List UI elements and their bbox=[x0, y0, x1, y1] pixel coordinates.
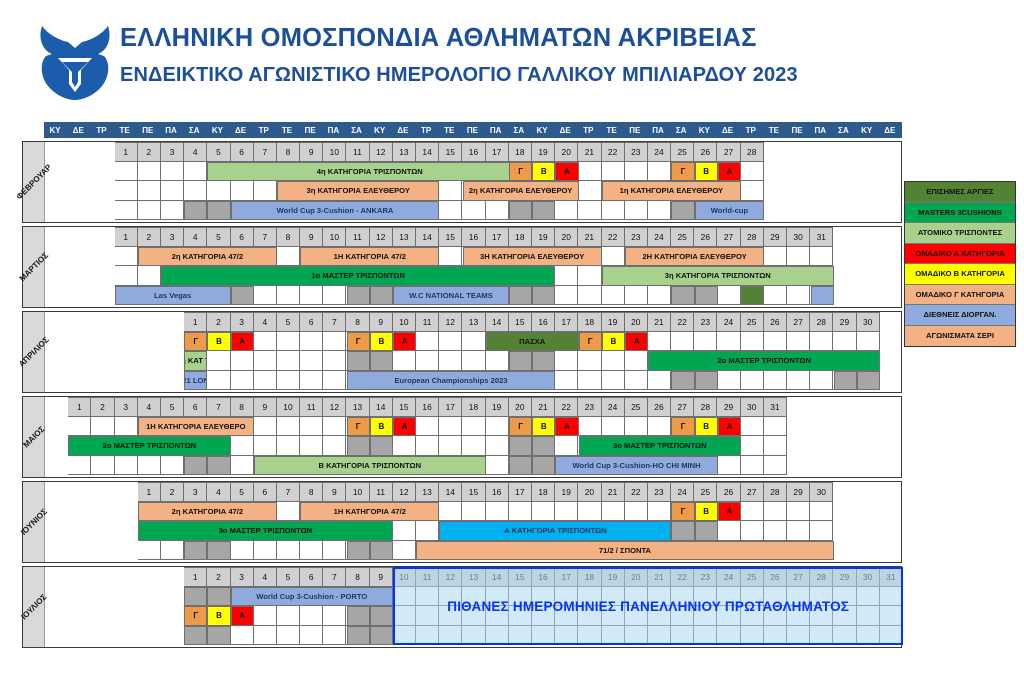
calendar-cell bbox=[532, 502, 555, 522]
day-number-cell: 27 bbox=[741, 482, 764, 502]
event-bar: W.C NATIONAL TEAMS bbox=[393, 286, 509, 306]
spacer-cell bbox=[91, 286, 114, 306]
day-number-cell: 27 bbox=[717, 227, 740, 247]
calendar-cell bbox=[509, 626, 532, 646]
calendar-cell bbox=[207, 181, 230, 201]
weekend-cell bbox=[347, 606, 370, 626]
months-host: ΦΕΒΡΟΥΑΡ12345678910111213141516171819202… bbox=[22, 141, 902, 648]
spacer-cell bbox=[68, 201, 91, 221]
event-bar: 4η ΚΑΤΗΓΟΡΙΑ ΤΡΙΣΠΟΝΤΩΝ bbox=[207, 162, 532, 182]
weekday-header-cell: ΔΕ bbox=[554, 122, 577, 138]
calendar-cell bbox=[115, 181, 138, 201]
calendar-cell bbox=[787, 521, 810, 541]
day-number-cell: 25 bbox=[741, 567, 764, 587]
calendar-cell bbox=[486, 502, 509, 522]
day-number-cell: 28 bbox=[810, 312, 833, 332]
calendar-cell bbox=[277, 286, 300, 306]
spacer-cell bbox=[45, 142, 68, 162]
weekend-cell bbox=[671, 201, 694, 221]
event-bar: Γ bbox=[184, 332, 207, 352]
day-number-cell: 21 bbox=[648, 567, 671, 587]
calendar-cell bbox=[671, 606, 694, 626]
weekend-cell bbox=[207, 626, 230, 646]
month-block: ΜΑΡΤΙΟΣ123456789101112131415161718192021… bbox=[22, 226, 902, 308]
calendar-cell bbox=[254, 436, 277, 456]
day-number-cell: 15 bbox=[462, 482, 485, 502]
calendar-cell bbox=[323, 541, 346, 561]
day-number-cell: 8 bbox=[277, 227, 300, 247]
federation-logo-icon bbox=[36, 22, 114, 102]
calendar-cell bbox=[648, 371, 671, 391]
calendar-cell bbox=[300, 351, 323, 371]
calendar-cell bbox=[416, 626, 439, 646]
day-number-cell: 8 bbox=[346, 567, 369, 587]
day-number-cell: 2 bbox=[161, 482, 184, 502]
calendar-cell bbox=[486, 201, 509, 221]
spacer-cell bbox=[68, 606, 91, 626]
day-number-cell: 18 bbox=[578, 312, 601, 332]
spacer-cell bbox=[45, 181, 68, 201]
event-bar: Γ bbox=[347, 332, 370, 352]
page-title: ΕΛΛΗΝΙΚΗ ΟΜΟΣΠΟΝΔΙΑ ΑΘΛΗΜΑΤΩΝ ΑΚΡΙΒΕΙΑΣ bbox=[120, 24, 798, 52]
day-number-cell: 7 bbox=[254, 142, 277, 162]
weekend-cell bbox=[532, 456, 555, 476]
spacer-cell bbox=[880, 181, 903, 201]
calendar-cell bbox=[625, 587, 648, 607]
day-number-cell: 8 bbox=[231, 397, 254, 417]
weekend-cell bbox=[695, 521, 718, 541]
calendar-cell bbox=[648, 626, 671, 646]
spacer-cell bbox=[45, 482, 68, 502]
spacer-cell bbox=[115, 567, 138, 587]
day-number-cell: 10 bbox=[323, 227, 346, 247]
calendar-cell bbox=[625, 606, 648, 626]
calendar-cell bbox=[161, 162, 184, 182]
calendar-cell bbox=[787, 332, 810, 352]
calendar-cell bbox=[323, 371, 346, 391]
spacer-cell bbox=[68, 142, 91, 162]
weekend-cell bbox=[532, 436, 555, 456]
day-number-cell: 15 bbox=[509, 567, 532, 587]
spacer-cell bbox=[787, 417, 810, 437]
calendar-cell bbox=[648, 606, 671, 626]
day-number-cell: 13 bbox=[393, 142, 416, 162]
event-bar: Γ bbox=[579, 332, 602, 352]
calendar-cell bbox=[833, 626, 856, 646]
calendar-cell bbox=[741, 456, 764, 476]
day-number-cell: 24 bbox=[648, 142, 671, 162]
calendar-cell bbox=[602, 587, 625, 607]
spacer-cell bbox=[138, 351, 161, 371]
calendar-cell bbox=[602, 371, 625, 391]
event-bar: 2η ΚΑΤΗΓΟΡΙΑ 47/2 bbox=[138, 502, 277, 522]
month-label-text: ΙΟΥΝΙΟΣ bbox=[19, 507, 49, 537]
day-number-cell: 31 bbox=[810, 227, 833, 247]
day-number-cell: 11 bbox=[346, 227, 369, 247]
calendar-cell bbox=[231, 371, 254, 391]
spacer-cell bbox=[810, 436, 833, 456]
calendar-cell bbox=[648, 502, 671, 522]
spacer-cell bbox=[833, 286, 856, 306]
calendar-cell bbox=[416, 587, 439, 607]
weekday-header-cell: ΤΡ bbox=[740, 122, 763, 138]
spacer-cell bbox=[91, 142, 114, 162]
weekday-header-cell: ΤΕ bbox=[438, 122, 461, 138]
legend-item: ΔΙΕΘΝΕΙΣ ΔΙΟΡΓΑΝ. bbox=[905, 305, 1015, 326]
event-bar: 1ο ΜΑΣΤΕΡ ΤΡΙΣΠΟΝΤΩΝ bbox=[161, 266, 555, 286]
spacer-cell bbox=[857, 266, 880, 286]
calendar-cell bbox=[300, 541, 323, 561]
calendar-cell bbox=[462, 436, 485, 456]
weekend-cell bbox=[370, 606, 393, 626]
calendar-cell bbox=[717, 521, 740, 541]
weekend-cell bbox=[184, 587, 207, 607]
day-number-cell: 2 bbox=[138, 142, 161, 162]
calendar-cell bbox=[486, 436, 509, 456]
spacer-cell bbox=[45, 626, 68, 646]
spacer-cell bbox=[68, 227, 91, 247]
calendar-cell bbox=[416, 606, 439, 626]
spacer-cell bbox=[787, 397, 810, 417]
day-number-cell: 27 bbox=[787, 567, 810, 587]
calendar-cell bbox=[184, 162, 207, 182]
calendar-cell bbox=[555, 351, 578, 371]
month-label: ΦΕΒΡΟΥΑΡ bbox=[23, 142, 45, 222]
day-number-cell: 25 bbox=[741, 312, 764, 332]
spacer-cell bbox=[833, 436, 856, 456]
day-number-cell: 19 bbox=[555, 482, 578, 502]
spacer-cell bbox=[45, 162, 68, 182]
day-number-cell: 10 bbox=[277, 397, 300, 417]
weekday-header-cell: ΤΕ bbox=[276, 122, 299, 138]
calendar-cell bbox=[509, 587, 532, 607]
calendar-cell bbox=[462, 201, 485, 221]
day-number-cell: 8 bbox=[300, 482, 323, 502]
spacer-cell bbox=[787, 436, 810, 456]
spacer-cell bbox=[45, 567, 68, 587]
calendar-cell bbox=[764, 371, 787, 391]
spacer-cell bbox=[68, 521, 91, 541]
spacer-cell bbox=[880, 397, 903, 417]
spacer-cell bbox=[787, 201, 810, 221]
spacer-cell bbox=[91, 351, 114, 371]
event-bar: 1Η ΚΑΤΗΓΟΡΙΑ 47/2 bbox=[300, 247, 439, 267]
spacer-cell bbox=[857, 181, 880, 201]
calendar-cell bbox=[764, 286, 787, 306]
day-number-cell: 24 bbox=[602, 397, 625, 417]
weekday-header-cell: ΤΡ bbox=[90, 122, 113, 138]
month-block: ΙΟΥΛΙΟΣ123456789101112131415161718192021… bbox=[22, 566, 902, 648]
calendar-cell bbox=[439, 247, 462, 267]
spacer-cell bbox=[91, 162, 114, 182]
calendar-cell bbox=[694, 626, 717, 646]
spacer-cell bbox=[857, 482, 880, 502]
spacer-cell bbox=[68, 312, 91, 332]
day-number-cell: 16 bbox=[416, 397, 439, 417]
spacer-cell bbox=[45, 286, 68, 306]
month-block: ΙΟΥΝΙΟΣ123456789101112131415161718192021… bbox=[22, 481, 902, 563]
calendar-cell bbox=[764, 521, 787, 541]
event-bar: Β ΚΑΤΗΓΟΡΙΑ ΤΡΙΣΠΟΝΤΩΝ bbox=[254, 456, 486, 476]
calendar-cell bbox=[694, 332, 717, 352]
calendar-cell bbox=[138, 266, 161, 286]
calendar-cell bbox=[625, 201, 648, 221]
spacer-cell bbox=[68, 482, 91, 502]
calendar-cell bbox=[115, 247, 138, 267]
calendar-cell bbox=[300, 286, 323, 306]
calendar-cell bbox=[68, 417, 91, 437]
event-bar: Γ bbox=[671, 502, 694, 522]
calendar-cell bbox=[439, 351, 462, 371]
spacer-cell bbox=[68, 541, 91, 561]
calendar-cell bbox=[810, 247, 833, 267]
day-number-cell: 3 bbox=[161, 142, 184, 162]
calendar-cell bbox=[741, 162, 764, 182]
spacer-cell bbox=[857, 456, 880, 476]
day-number-cell: 16 bbox=[532, 567, 555, 587]
weekday-header-cell: ΚΥ bbox=[206, 122, 229, 138]
calendar-cell bbox=[810, 332, 833, 352]
weekend-cell bbox=[184, 201, 207, 221]
event-bar: Α bbox=[555, 162, 578, 182]
weekend-cell bbox=[811, 286, 834, 306]
spacer-cell bbox=[68, 181, 91, 201]
event-bar: Β bbox=[695, 162, 718, 182]
day-number-cell: 9 bbox=[323, 482, 346, 502]
event-bar: Α bbox=[393, 417, 416, 437]
calendar-cell bbox=[439, 502, 462, 522]
calendar-cell bbox=[578, 201, 601, 221]
event-bar: World-cup bbox=[695, 201, 765, 221]
weekday-header-cell: ΠΑ bbox=[322, 122, 345, 138]
spacer-cell bbox=[45, 587, 68, 607]
calendar-cell bbox=[602, 351, 625, 371]
calendar-cell bbox=[509, 502, 532, 522]
calendar-cell bbox=[439, 417, 462, 437]
day-number-cell: 17 bbox=[555, 567, 578, 587]
day-number-cell: 7 bbox=[323, 312, 346, 332]
spacer-cell bbox=[91, 541, 114, 561]
event-bar: Α bbox=[718, 417, 741, 437]
day-number-cell: 27 bbox=[671, 397, 694, 417]
spacer-cell bbox=[833, 397, 856, 417]
spacer-cell bbox=[857, 541, 880, 561]
weekday-header-cell: ΤΕ bbox=[601, 122, 624, 138]
day-number-cell: 29 bbox=[833, 567, 856, 587]
calendar-cell bbox=[393, 626, 416, 646]
spacer-cell bbox=[857, 397, 880, 417]
calendar-cell bbox=[416, 436, 439, 456]
spacer-cell bbox=[138, 606, 161, 626]
day-number-cell: 18 bbox=[462, 397, 485, 417]
day-number-cell: 15 bbox=[393, 397, 416, 417]
day-number-cell: 1 bbox=[115, 227, 138, 247]
weekend-cell bbox=[370, 626, 393, 646]
spacer-cell bbox=[161, 567, 184, 587]
calendar-cell bbox=[671, 587, 694, 607]
day-number-cell: 17 bbox=[509, 482, 532, 502]
calendar-cell bbox=[833, 332, 856, 352]
legend-item: ΟΜΑΔΙΚΟ Γ ΚΑΤΗΓΟΡΙΑ bbox=[905, 285, 1015, 306]
calendar-cell bbox=[602, 417, 625, 437]
day-number-cell: 16 bbox=[462, 227, 485, 247]
event-bar: 1Η ΚΑΤΗΓΟΡΙΑ ΕΛΕΥΘΕΡΟ bbox=[138, 417, 254, 437]
spacer-cell bbox=[880, 417, 903, 437]
day-number-cell: 24 bbox=[648, 227, 671, 247]
day-number-cell: 5 bbox=[207, 227, 230, 247]
weekday-header-cell: ΚΥ bbox=[856, 122, 879, 138]
day-number-cell: 13 bbox=[462, 567, 485, 587]
spacer-cell bbox=[787, 142, 810, 162]
weekend-cell bbox=[532, 286, 555, 306]
calendar-cell bbox=[300, 606, 323, 626]
day-number-cell: 29 bbox=[764, 227, 787, 247]
weekend-cell bbox=[509, 286, 532, 306]
legend-item: ΟΜΑΔΙΚΟ Α ΚΑΤΗΓΟΡΙΑ bbox=[905, 244, 1015, 265]
weekday-header-cell: ΣΑ bbox=[508, 122, 531, 138]
calendar-cell bbox=[277, 502, 300, 522]
calendar-cell bbox=[787, 587, 810, 607]
calendar-cell bbox=[625, 417, 648, 437]
event-bar: Γ bbox=[184, 606, 207, 626]
spacer-cell bbox=[45, 417, 68, 437]
calendar-cell bbox=[810, 606, 833, 626]
day-number-cell: 2 bbox=[207, 567, 230, 587]
spacer-cell bbox=[161, 626, 184, 646]
calendar-cell bbox=[277, 541, 300, 561]
calendar-cell bbox=[694, 606, 717, 626]
spacer-cell bbox=[138, 567, 161, 587]
calendar-cell bbox=[254, 626, 277, 646]
legend-panel: ΕΠΙΣΗΜΕΣ ΑΡΓΙΕΣMASTERS 3CUSHIONSΑΤΟΜΙΚΟ … bbox=[904, 181, 1016, 347]
event-bar: Β bbox=[695, 502, 718, 522]
spacer-cell bbox=[833, 227, 856, 247]
calendar-cell bbox=[555, 606, 578, 626]
day-number-cell: 26 bbox=[764, 312, 787, 332]
calendar-cell bbox=[300, 332, 323, 352]
weekend-cell bbox=[509, 456, 532, 476]
event-bar: Β bbox=[207, 332, 230, 352]
calendar-cell bbox=[486, 417, 509, 437]
calendar-cell bbox=[764, 587, 787, 607]
spacer-cell bbox=[764, 162, 787, 182]
spacer-cell bbox=[138, 626, 161, 646]
day-number-cell: 27 bbox=[717, 142, 740, 162]
day-number-cell: 21 bbox=[578, 227, 601, 247]
event-bar: Β bbox=[370, 332, 393, 352]
day-number-cell: 1 bbox=[115, 142, 138, 162]
spacer-cell bbox=[45, 397, 68, 417]
calendar-cell bbox=[741, 436, 764, 456]
day-number-cell: 28 bbox=[694, 397, 717, 417]
calendar-cell bbox=[578, 371, 601, 391]
spacer-cell bbox=[161, 312, 184, 332]
day-number-cell: 6 bbox=[184, 397, 207, 417]
calendar-cell bbox=[300, 371, 323, 391]
day-number-cell: 14 bbox=[416, 142, 439, 162]
weekday-header-cell: ΤΡ bbox=[577, 122, 600, 138]
weekday-header-cell: ΔΕ bbox=[67, 122, 90, 138]
spacer-cell bbox=[810, 181, 833, 201]
calendar-cell bbox=[138, 541, 161, 561]
day-number-cell: 18 bbox=[532, 482, 555, 502]
event-bar: Α bbox=[231, 606, 254, 626]
day-number-cell: 5 bbox=[161, 397, 184, 417]
spacer-cell bbox=[880, 541, 903, 561]
day-number-cell: 22 bbox=[671, 567, 694, 587]
calendar-cell bbox=[254, 417, 277, 437]
calendar-cell bbox=[741, 626, 764, 646]
spacer-cell bbox=[880, 502, 903, 522]
calendar-cell bbox=[254, 541, 277, 561]
calendar-cell bbox=[231, 351, 254, 371]
day-number-cell: 30 bbox=[857, 312, 880, 332]
spacer-cell bbox=[45, 521, 68, 541]
spacer-cell bbox=[115, 502, 138, 522]
day-number-cell: 6 bbox=[231, 227, 254, 247]
spacer-cell bbox=[115, 606, 138, 626]
spacer-cell bbox=[857, 201, 880, 221]
spacer-cell bbox=[91, 332, 114, 352]
weekend-cell bbox=[207, 587, 230, 607]
spacer-cell bbox=[833, 521, 856, 541]
event-bar: Α bbox=[555, 417, 578, 437]
calendar-cell bbox=[625, 286, 648, 306]
calendar-cell bbox=[741, 181, 764, 201]
day-number-cell: 12 bbox=[370, 227, 393, 247]
spacer-cell bbox=[880, 142, 903, 162]
calendar-cell bbox=[717, 587, 740, 607]
calendar-cell bbox=[833, 587, 856, 607]
weekend-cell bbox=[347, 626, 370, 646]
day-number-cell: 12 bbox=[439, 567, 462, 587]
event-bar: 2η ΚΑΤΗΓΟΡΙΑ 47/2 bbox=[138, 247, 277, 267]
month-label: ΜΑΙΟΣ bbox=[23, 397, 45, 477]
weekend-cell bbox=[532, 201, 555, 221]
spacer-cell bbox=[161, 351, 184, 371]
calendar-cell bbox=[254, 332, 277, 352]
weekend-cell bbox=[370, 351, 393, 371]
day-number-cell: 15 bbox=[509, 312, 532, 332]
weekday-header-cell: ΠΕ bbox=[624, 122, 647, 138]
spacer-cell bbox=[857, 417, 880, 437]
legend-item: ΟΜΑΔΙΚΟ Β ΚΑΤΗΓΟΡΙΑ bbox=[905, 264, 1015, 285]
weekday-header-cell: ΔΕ bbox=[716, 122, 739, 138]
calendar-cell bbox=[323, 626, 346, 646]
day-number-cell: 30 bbox=[787, 227, 810, 247]
calendar-cell bbox=[138, 201, 161, 221]
spacer-cell bbox=[880, 286, 903, 306]
spacer-cell bbox=[833, 162, 856, 182]
day-number-cell: 3 bbox=[115, 397, 138, 417]
day-number-cell: 29 bbox=[717, 397, 740, 417]
spacer-cell bbox=[68, 162, 91, 182]
event-bar: 2ο ΜΑΣΤΕΡ ΤΡΙΣΠΟΝΤΩΝ bbox=[68, 436, 230, 456]
spacer-cell bbox=[787, 456, 810, 476]
spacer-cell bbox=[45, 606, 68, 626]
calendar-cell bbox=[161, 541, 184, 561]
calendar-cell bbox=[764, 456, 787, 476]
spacer-cell bbox=[91, 567, 114, 587]
month-block: ΦΕΒΡΟΥΑΡ12345678910111213141516171819202… bbox=[22, 141, 902, 223]
calendar-cell bbox=[717, 626, 740, 646]
calendar-cell bbox=[717, 332, 740, 352]
calendar-cell bbox=[671, 332, 694, 352]
spacer-cell bbox=[91, 227, 114, 247]
day-number-cell: 8 bbox=[277, 142, 300, 162]
spacer-cell bbox=[68, 247, 91, 267]
day-number-cell: 23 bbox=[694, 312, 717, 332]
